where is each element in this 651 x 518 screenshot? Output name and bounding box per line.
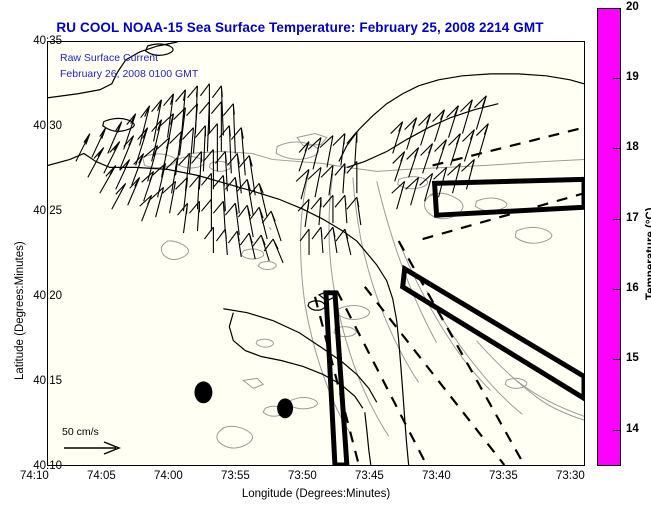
scale-bar-arrow-icon bbox=[62, 441, 124, 455]
colorbar-tick-label: 14 bbox=[626, 423, 639, 435]
colorbar bbox=[597, 8, 621, 466]
station-markers bbox=[194, 381, 293, 418]
x-tick-label: 73:40 bbox=[422, 470, 451, 482]
scale-bar: 50 cm/s bbox=[62, 426, 124, 455]
colorbar-tick-label: 20 bbox=[626, 1, 639, 13]
x-tick-label: 73:35 bbox=[489, 470, 518, 482]
x-axis-label: Longitude (Degrees:Minutes) bbox=[47, 488, 585, 500]
annotation-line-1: Raw Surface Current bbox=[60, 52, 158, 64]
y-tick-label: 40:20 bbox=[33, 290, 62, 302]
y-tick-label: 40:30 bbox=[33, 120, 62, 132]
y-axis-label: Latitude (Degrees:Minutes) bbox=[14, 241, 26, 380]
survey-transect-boxes bbox=[326, 179, 584, 465]
colorbar-axis-label: Temperature (°C) bbox=[645, 207, 651, 300]
x-tick-label: 74:00 bbox=[154, 470, 183, 482]
x-tick-label: 73:30 bbox=[556, 470, 585, 482]
colorbar-tick-label: 17 bbox=[626, 212, 639, 224]
map-graphics bbox=[48, 42, 584, 465]
colorbar-tick-label: 16 bbox=[626, 282, 639, 294]
x-tick-label: 73:50 bbox=[288, 470, 317, 482]
x-tick-label: 73:55 bbox=[221, 470, 250, 482]
y-tick-label: 40:25 bbox=[33, 205, 62, 217]
map-plot-area: Raw Surface Current February 26, 2008 01… bbox=[47, 41, 585, 466]
x-tick-label: 73:45 bbox=[355, 470, 384, 482]
page-title: RU COOL NOAA-15 Sea Surface Temperature:… bbox=[0, 20, 600, 35]
colorbar-tick-label: 18 bbox=[626, 141, 639, 153]
y-tick-label: 40:15 bbox=[33, 375, 62, 387]
x-tick-label: 74:05 bbox=[87, 470, 116, 482]
colorbar-tick-label: 15 bbox=[626, 352, 639, 364]
scale-bar-label: 50 cm/s bbox=[62, 426, 124, 438]
surface-current-vectors bbox=[76, 84, 488, 263]
colorbar-tick-label: 19 bbox=[626, 71, 639, 83]
annotation-line-2: February 26, 2008 0100 GMT bbox=[60, 68, 198, 80]
x-tick-label: 74:10 bbox=[20, 470, 49, 482]
y-tick-label: 40:35 bbox=[33, 35, 62, 47]
